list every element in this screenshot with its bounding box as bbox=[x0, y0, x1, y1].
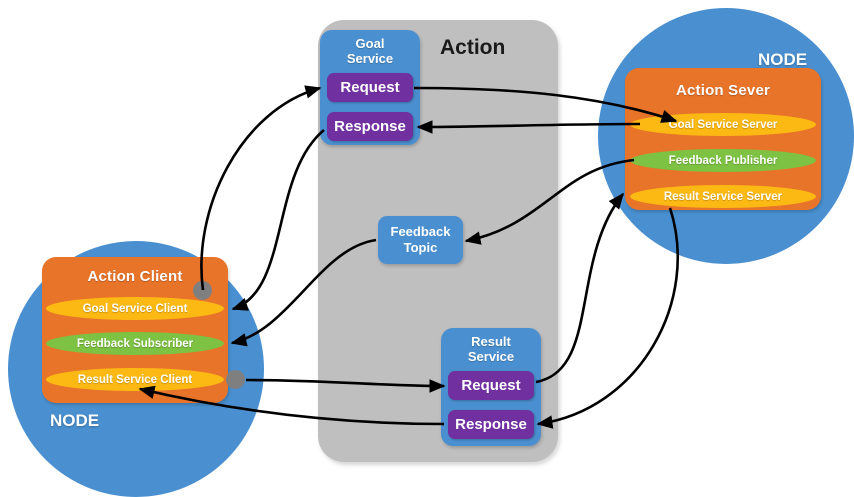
result-service-request-label: Request bbox=[461, 377, 520, 394]
result-service-title-line2: Service bbox=[468, 349, 514, 364]
pill-goal-service-server-label: Goal Service Server bbox=[669, 119, 778, 131]
connector-dot-result-client bbox=[226, 370, 245, 389]
action-panel-title: Action bbox=[440, 36, 560, 60]
diagram-canvas: Action NODE Action Sever Goal Service Se… bbox=[0, 0, 854, 480]
pill-result-service-client[interactable]: Result Service Client bbox=[46, 368, 224, 391]
pill-goal-service-client-label: Goal Service Client bbox=[83, 303, 188, 315]
server-node-label: NODE bbox=[758, 50, 807, 70]
pill-goal-service-server[interactable]: Goal Service Server bbox=[630, 113, 816, 136]
goal-service-title: Goal Service bbox=[320, 36, 420, 66]
goal-service-request[interactable]: Request bbox=[327, 73, 413, 102]
result-service-title-line1: Result bbox=[471, 334, 511, 349]
pill-result-service-client-label: Result Service Client bbox=[78, 374, 192, 386]
goal-service-title-line2: Service bbox=[347, 51, 393, 66]
pill-feedback-publisher-label: Feedback Publisher bbox=[669, 155, 778, 167]
goal-service-request-label: Request bbox=[340, 79, 399, 96]
goal-service-title-line1: Goal bbox=[356, 36, 385, 51]
feedback-topic-box[interactable]: Feedback Topic bbox=[378, 216, 463, 264]
feedback-topic-line2: Topic bbox=[404, 240, 438, 255]
pill-result-service-server-label: Result Service Server bbox=[664, 191, 782, 203]
action-server-title: Action Sever bbox=[625, 82, 821, 99]
connector-dot-goal-client bbox=[193, 281, 212, 300]
feedback-topic-line1: Feedback bbox=[391, 224, 451, 239]
result-service-response[interactable]: Response bbox=[448, 410, 534, 439]
result-service-response-label: Response bbox=[455, 416, 527, 433]
pill-feedback-publisher[interactable]: Feedback Publisher bbox=[630, 149, 816, 172]
result-service-title: Result Service bbox=[441, 334, 541, 364]
goal-service-response[interactable]: Response bbox=[327, 112, 413, 141]
pill-feedback-subscriber-label: Feedback Subscriber bbox=[77, 338, 193, 350]
pill-result-service-server[interactable]: Result Service Server bbox=[630, 185, 816, 208]
pill-goal-service-client[interactable]: Goal Service Client bbox=[46, 297, 224, 320]
goal-service-response-label: Response bbox=[334, 118, 406, 135]
pill-feedback-subscriber[interactable]: Feedback Subscriber bbox=[46, 332, 224, 355]
arrow-goal-response-to-client bbox=[233, 130, 324, 309]
client-node-label: NODE bbox=[50, 411, 99, 431]
result-service-request[interactable]: Request bbox=[448, 371, 534, 400]
